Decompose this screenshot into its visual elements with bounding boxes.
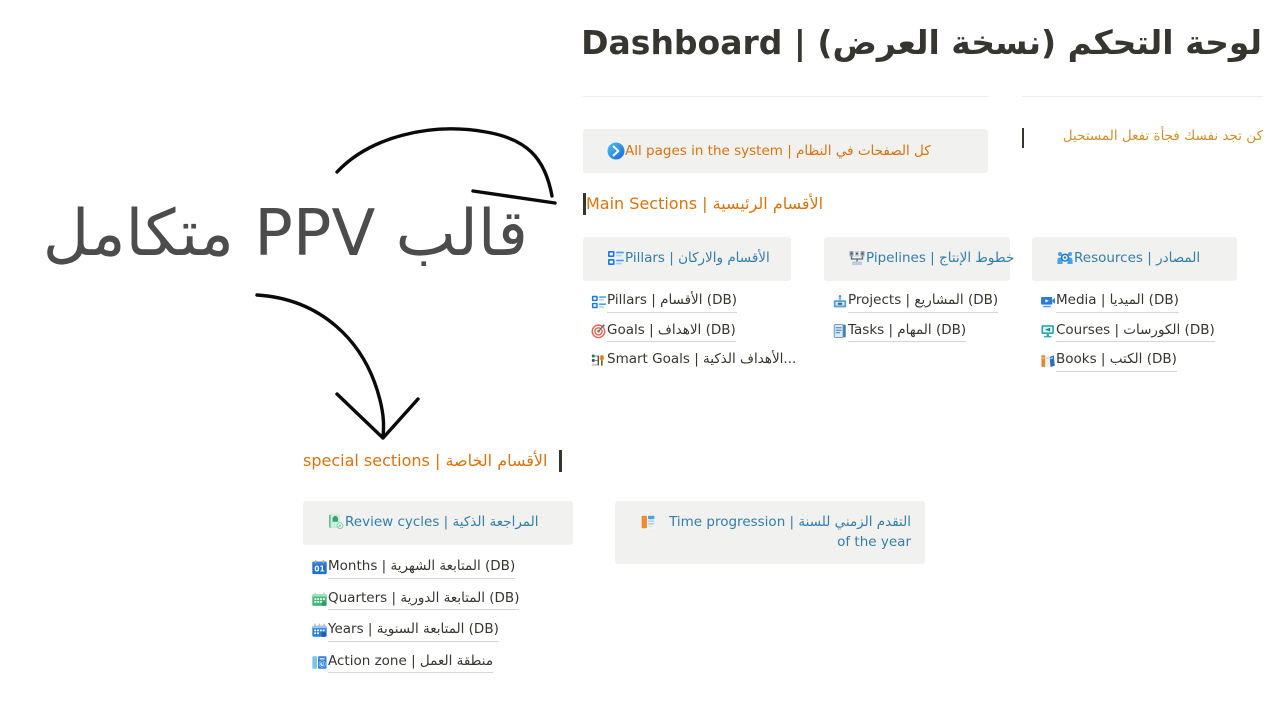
- card-time-progression[interactable]: التقدم الزمني للسنة | Time progression o…: [615, 501, 925, 564]
- card-time-progression-label: التقدم الزمني للسنة | Time progression o…: [657, 513, 911, 552]
- quote-text: كن تجد نفسك فجأة تفعل المستحيل: [1024, 126, 1263, 146]
- list-item[interactable]: (DB) الميديا | Media: [1032, 291, 1237, 313]
- calendar-month-icon: 01: [311, 559, 328, 576]
- list-item-label: (DB) المشاريع | Projects: [848, 291, 998, 313]
- resources-people-icon: [1056, 249, 1074, 267]
- card-pillars[interactable]: الأقسام والاركان | Pillars: [583, 237, 791, 281]
- list-item-label: (DB) الاهداف | Goals: [607, 321, 736, 343]
- blue-circle-arrow-icon: [607, 142, 625, 160]
- link-list-pipelines: (DB) المشاريع | Projects (DB) المهام | T…: [824, 291, 1010, 342]
- link-list-pillars: (DB) الأقسام | Pillars (DB) الاهداف | Go…: [583, 291, 791, 371]
- screenshot-root: لوحة التحكم (نسخة العرض) | Dashboard كن …: [0, 0, 1280, 720]
- review-book-icon: [327, 513, 345, 531]
- heading-bar: [583, 193, 586, 215]
- column-pillars: الأقسام والاركان | Pillars: [583, 237, 791, 371]
- list-item-label: (DB) الميديا | Media: [1056, 291, 1179, 313]
- pipelines-factory-icon: [848, 249, 866, 267]
- courses-monitor-icon: [1040, 323, 1056, 339]
- link-list-resources: (DB) الميديا | Media (DB) الكورسات | Cou…: [1032, 291, 1237, 372]
- list-item-label: (DB) المتابعة الشهرية | Months: [328, 557, 515, 579]
- list-item[interactable]: 01 (DB) المتابعة الشهرية | Months: [303, 557, 573, 579]
- smart-goals-icon: [591, 352, 607, 368]
- column-time-progression: التقدم الزمني للسنة | Time progression o…: [615, 501, 925, 564]
- list-item[interactable]: (DB) المتابعة السنوية | Years: [303, 620, 573, 642]
- notion-page: لوحة التحكم (نسخة العرض) | Dashboard كن …: [0, 0, 1280, 720]
- heading-main-sections: الأقسام الرئيسية | Main Sections: [583, 193, 988, 215]
- card-pillars-label: الأقسام والاركان | Pillars: [625, 249, 770, 269]
- action-zone-icon: [311, 654, 328, 671]
- pillars-list-icon: [591, 294, 607, 310]
- list-item[interactable]: (DB) الكورسات | Courses: [1032, 321, 1237, 343]
- list-item[interactable]: منطقة العمل | Action zone: [303, 652, 573, 674]
- list-item[interactable]: (DB) الكتب | Books: [1032, 350, 1237, 372]
- list-item[interactable]: (DB) المتابعة الدورية | Quarters: [303, 589, 573, 611]
- tasks-clipboard-icon: [832, 323, 848, 339]
- media-video-icon: [1040, 294, 1056, 310]
- calendar-year-icon: [311, 622, 328, 639]
- page-title: لوحة التحكم (نسخة العرض) | Dashboard: [572, 22, 1262, 63]
- quote-bar: [1022, 128, 1024, 148]
- heading-bar: [559, 450, 562, 472]
- projects-icon: [832, 294, 848, 310]
- list-item[interactable]: (DB) الاهداف | Goals: [583, 321, 791, 343]
- card-pipelines[interactable]: خطوط الإنتاج | Pipelines: [824, 237, 1010, 281]
- column-resources: المصادر | Resources (DB) الميديا | Media: [1032, 237, 1237, 372]
- calendar-quarter-icon: [311, 591, 328, 608]
- callout-all-pages[interactable]: كل الصفحات في النظام | All pages in the …: [583, 129, 988, 173]
- list-item-label: (DB) الأقسام | Pillars: [607, 291, 737, 313]
- annotation-headline: قالب PPV متكامل: [18, 198, 528, 272]
- column-review-cycles: المراجعة الذكية | Review cycles 01 (DB) …: [303, 501, 573, 673]
- list-item[interactable]: (DB) الأقسام | Pillars: [583, 291, 791, 313]
- list-item-label: ...الأهداف الذكية | Smart Goals: [607, 350, 796, 371]
- books-icon: [1040, 353, 1056, 369]
- card-review-cycles-label: المراجعة الذكية | Review cycles: [345, 513, 538, 533]
- list-item-label: (DB) الكتب | Books: [1056, 350, 1177, 372]
- quote-block: كن تجد نفسك فجأة تفعل المستحيل: [1022, 126, 1263, 148]
- list-item-label: منطقة العمل | Action zone: [328, 652, 493, 674]
- pillars-list-icon: [607, 249, 625, 267]
- list-item-label: (DB) المهام | Tasks: [848, 321, 966, 343]
- card-review-cycles[interactable]: المراجعة الذكية | Review cycles: [303, 501, 573, 545]
- column-pipelines: خطوط الإنتاج | Pipelines (DB) المشاريع |…: [824, 237, 1010, 342]
- heading-main-sections-label: الأقسام الرئيسية | Main Sections: [586, 194, 835, 215]
- heading-special-sections: الأقسام الخاصة | special sections: [303, 450, 578, 472]
- time-progress-icon: [639, 513, 657, 531]
- list-item-label: (DB) المتابعة الدورية | Quarters: [328, 589, 519, 611]
- divider-left: [583, 96, 988, 97]
- card-resources-label: المصادر | Resources: [1074, 249, 1200, 269]
- list-item[interactable]: ...الأهداف الذكية | Smart Goals: [583, 350, 791, 371]
- list-item[interactable]: (DB) المشاريع | Projects: [824, 291, 1010, 313]
- link-list-review-cycles: 01 (DB) المتابعة الشهرية | Months: [303, 557, 573, 673]
- divider-right: [1022, 96, 1263, 97]
- card-resources[interactable]: المصادر | Resources: [1032, 237, 1237, 281]
- card-pipelines-label: خطوط الإنتاج | Pipelines: [866, 249, 1014, 269]
- list-item-label: (DB) المتابعة السنوية | Years: [328, 620, 499, 642]
- callout-label: كل الصفحات في النظام | All pages in the …: [625, 142, 931, 161]
- list-item[interactable]: (DB) المهام | Tasks: [824, 321, 1010, 343]
- target-icon: [591, 323, 607, 339]
- svg-text:01: 01: [314, 565, 325, 574]
- heading-special-sections-label: الأقسام الخاصة | special sections: [303, 451, 547, 472]
- list-item-label: (DB) الكورسات | Courses: [1056, 321, 1215, 343]
